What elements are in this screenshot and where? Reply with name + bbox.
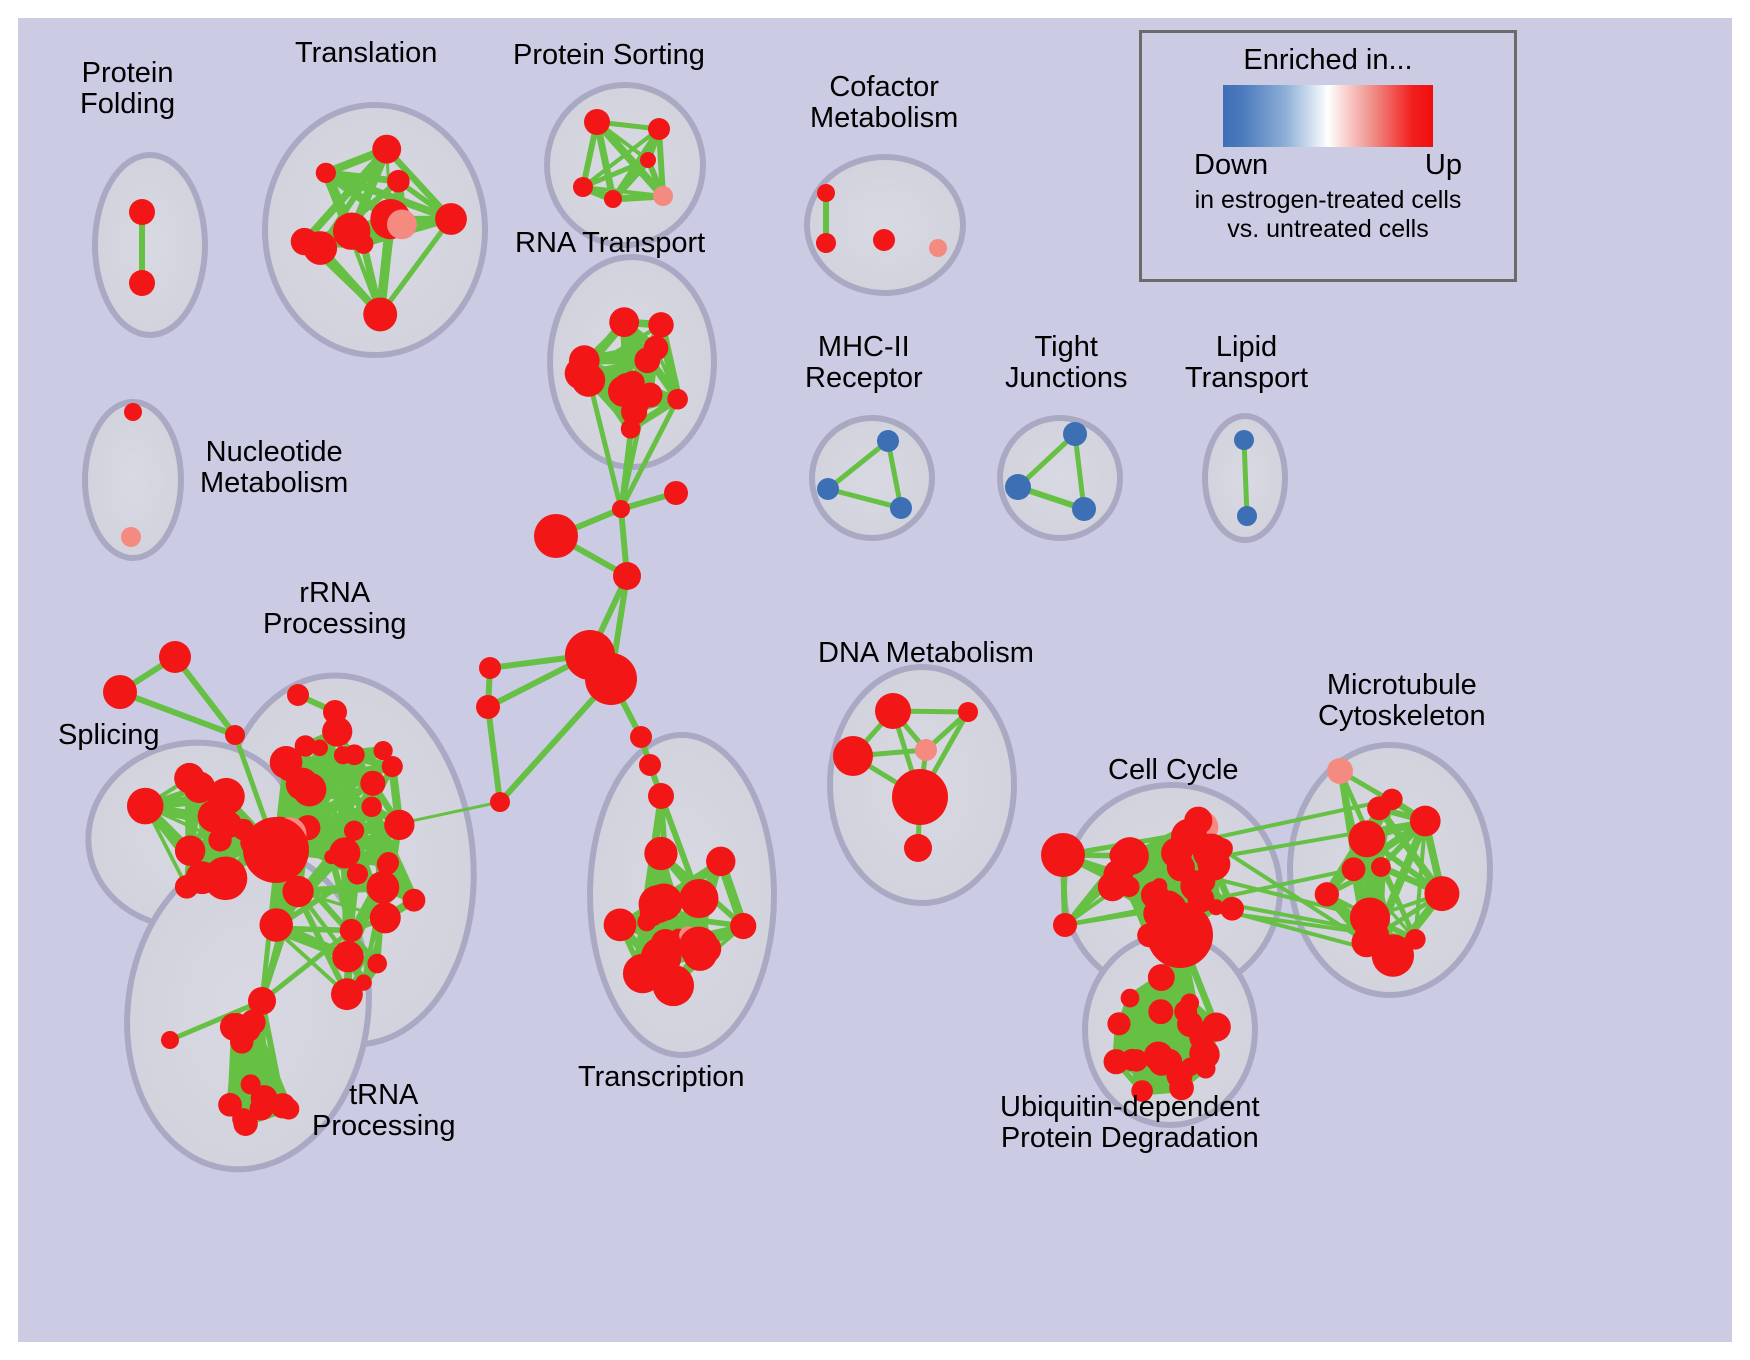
network-node <box>1072 497 1096 521</box>
network-node <box>370 902 401 933</box>
network-node <box>367 954 387 974</box>
network-node <box>904 834 932 862</box>
network-node <box>129 199 155 225</box>
network-node <box>585 653 637 705</box>
network-node <box>572 363 606 397</box>
network-node <box>653 186 673 206</box>
cluster-label-tight-junctions: Tight Junctions <box>1005 332 1128 393</box>
network-node <box>833 736 873 776</box>
network-node <box>1148 999 1173 1024</box>
network-node <box>311 740 328 757</box>
network-node <box>621 419 641 439</box>
network-node <box>816 233 836 253</box>
network-node <box>361 797 381 817</box>
network-node <box>1053 913 1077 937</box>
network-node <box>877 430 899 452</box>
network-node <box>1350 897 1390 937</box>
network-node <box>225 725 245 745</box>
network-node <box>248 987 276 1015</box>
legend-panel: Enriched in... Down Up in estrogen-treat… <box>1139 30 1517 282</box>
network-node <box>1063 422 1087 446</box>
network-node <box>638 382 663 407</box>
legend-title: Enriched in... <box>1142 44 1514 77</box>
network-node <box>817 478 839 500</box>
network-node <box>367 871 400 904</box>
network-node <box>915 739 937 761</box>
network-node <box>121 527 141 547</box>
network-node <box>648 312 673 337</box>
network-node <box>103 675 137 709</box>
cluster-label-cell-cycle: Cell Cycle <box>1108 755 1239 786</box>
network-node <box>363 297 397 331</box>
cluster-label-trna-processing: tRNA Processing <box>312 1080 455 1141</box>
network-node <box>1424 876 1459 911</box>
cluster-label-protein-sorting: Protein Sorting <box>513 40 705 71</box>
network-node <box>875 693 911 729</box>
network-node <box>1190 1040 1219 1069</box>
network-node <box>1410 806 1441 837</box>
cluster-ellipse-cofactor-metabolism <box>807 157 963 293</box>
network-node <box>1371 857 1391 877</box>
network-node <box>293 773 327 807</box>
network-node <box>355 974 371 990</box>
network-node <box>278 1098 299 1119</box>
network-node <box>584 109 610 135</box>
network-node <box>679 927 718 966</box>
cluster-label-dna-metabolism: DNA Metabolism <box>818 638 1034 669</box>
network-node <box>1237 506 1257 526</box>
cluster-label-microtubule-cytoskeleton: Microtubule Cytoskeleton <box>1318 670 1486 731</box>
network-node <box>161 1031 179 1049</box>
cluster-label-protein-folding: Protein Folding <box>80 58 175 119</box>
legend-high-label: Up <box>1425 149 1462 182</box>
network-node <box>387 170 410 193</box>
network-node <box>174 763 204 793</box>
figure-canvas: Enriched in... Down Up in estrogen-treat… <box>0 0 1750 1360</box>
network-node <box>334 746 352 764</box>
legend-colorbar <box>1223 85 1433 147</box>
cluster-label-cofactor-metabolism: Cofactor Metabolism <box>810 72 958 133</box>
network-node <box>604 190 622 208</box>
network-node <box>316 163 336 183</box>
network-node <box>287 684 309 706</box>
cluster-ellipse-protein-folding <box>95 155 205 335</box>
cluster-label-ubiquitin-protein-degradation: Ubiquitin-dependent Protein Degradation <box>1000 1092 1260 1153</box>
network-node <box>1005 474 1031 500</box>
network-node <box>634 347 660 373</box>
cluster-ellipse-protein-sorting <box>547 85 703 245</box>
legend-subtitle-line2: vs. untreated cells <box>1142 215 1514 244</box>
legend-subtitle-line1: in estrogen-treated cells <box>1142 186 1514 215</box>
network-node <box>1342 857 1366 881</box>
network-node-hub <box>243 817 309 883</box>
network-node <box>382 756 403 777</box>
network-node <box>124 403 142 421</box>
network-node <box>230 1030 253 1053</box>
network-node <box>323 700 347 724</box>
network-node <box>384 810 414 840</box>
network-node <box>613 562 641 590</box>
network-node <box>1197 848 1230 881</box>
network-node <box>324 850 338 864</box>
network-node <box>1107 1012 1130 1035</box>
network-node <box>347 863 368 884</box>
network-node <box>435 203 467 235</box>
network-node <box>340 919 363 942</box>
network-node <box>402 889 425 912</box>
cluster-ellipse-mhc-ii-receptor <box>812 418 932 538</box>
network-node <box>648 118 670 140</box>
cluster-label-lipid-transport: Lipid Transport <box>1185 332 1308 393</box>
network-node <box>1367 796 1391 820</box>
network-node <box>378 852 399 873</box>
network-node <box>706 847 735 876</box>
network-node <box>1151 878 1167 894</box>
network-node <box>1119 876 1140 897</box>
network-node <box>640 152 656 168</box>
network-node <box>573 177 593 197</box>
network-node <box>372 135 401 164</box>
network-node <box>609 307 639 337</box>
network-node <box>1315 882 1339 906</box>
network-node <box>613 373 641 401</box>
network-node <box>644 837 677 870</box>
network-node <box>129 270 155 296</box>
network-node <box>604 908 637 941</box>
network-node <box>1220 897 1244 921</box>
network-node <box>227 1013 247 1033</box>
network-node <box>1041 833 1085 877</box>
cluster-label-rrna-processing: rRNA Processing <box>263 578 406 639</box>
network-node <box>208 828 231 851</box>
network-node <box>340 226 361 247</box>
network-node <box>291 228 318 255</box>
network-node <box>1144 1042 1174 1072</box>
network-node <box>890 497 912 519</box>
network-node <box>127 788 164 825</box>
network-node <box>1109 844 1132 867</box>
network-node <box>186 861 219 894</box>
network-node <box>1184 807 1212 835</box>
network-edge <box>1244 440 1247 516</box>
network-node <box>1121 989 1140 1008</box>
cluster-label-rna-transport: RNA Transport <box>515 228 705 259</box>
network-node <box>159 641 191 673</box>
network-node <box>241 1074 261 1094</box>
network-node <box>1234 430 1254 450</box>
network-node <box>1148 964 1175 991</box>
network-node <box>344 821 364 841</box>
cluster-label-transcription: Transcription <box>578 1062 745 1093</box>
network-node <box>1372 934 1414 976</box>
cluster-label-mhc-ii-receptor: MHC-II Receptor <box>805 332 923 393</box>
network-node <box>640 943 671 974</box>
network-node <box>1104 1049 1129 1074</box>
network-node <box>929 239 947 257</box>
network-node <box>892 769 948 825</box>
network-node <box>476 695 500 719</box>
network-node <box>332 941 364 973</box>
network-node <box>259 908 292 941</box>
network-node <box>667 389 688 410</box>
network-node <box>198 800 230 832</box>
network-node <box>232 1108 254 1130</box>
network-node <box>958 702 978 722</box>
cluster-label-translation: Translation <box>295 38 437 69</box>
network-node <box>873 229 895 251</box>
network-node <box>490 792 510 812</box>
cluster-label-nucleotide-metabolism: Nucleotide Metabolism <box>200 437 348 498</box>
network-node <box>630 726 652 748</box>
cluster-label-splicing: Splicing <box>58 720 160 751</box>
network-node <box>360 771 385 796</box>
legend-subtitle: in estrogen-treated cells vs. untreated … <box>1142 186 1514 244</box>
network-node <box>534 514 578 558</box>
network-node <box>479 657 501 679</box>
network-node <box>664 481 688 505</box>
network-node <box>730 913 756 939</box>
network-edge <box>488 707 500 802</box>
network-node-hub <box>1147 902 1213 968</box>
network-node <box>637 913 656 932</box>
network-node <box>1180 993 1199 1012</box>
network-node <box>817 184 835 202</box>
network-node <box>648 783 674 809</box>
network-node <box>639 754 661 776</box>
network-node <box>612 500 630 518</box>
network-node <box>1327 758 1353 784</box>
network-node <box>1358 822 1376 840</box>
network-node <box>679 879 718 918</box>
legend-low-label: Down <box>1194 149 1268 182</box>
network-node <box>387 209 417 239</box>
